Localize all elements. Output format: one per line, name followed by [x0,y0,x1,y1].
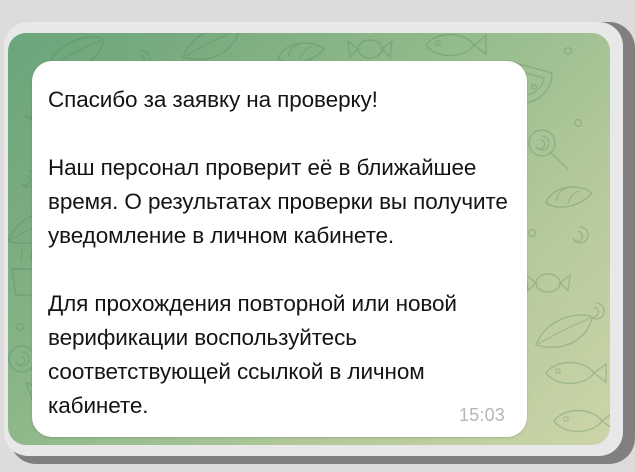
message-paragraph-1: Спасибо за заявку на проверку! [48,83,511,117]
message-paragraph-3: Для прохождения повторной или новой вери… [48,287,511,423]
screen: Спасибо за заявку на проверку! Наш персо… [0,0,635,472]
message-timestamp: 15:03 [459,405,505,426]
message-paragraph-2: Наш персонал проверит её в ближайшее вре… [48,151,511,253]
chat-message-bubble[interactable]: Спасибо за заявку на проверку! Наш персо… [32,61,527,437]
chat-panel: Спасибо за заявку на проверку! Наш персо… [8,33,610,445]
